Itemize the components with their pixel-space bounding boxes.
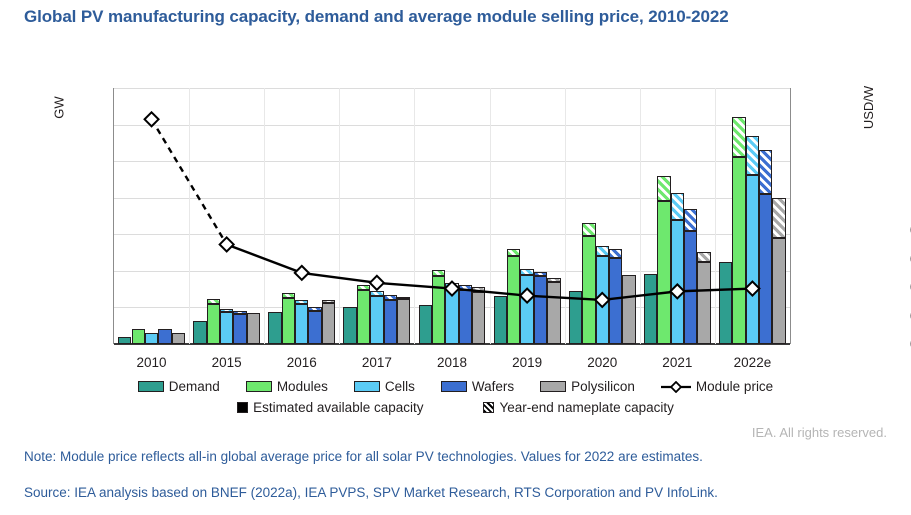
legend-item-polysilicon[interactable]: Polysilicon	[540, 379, 635, 394]
bar-cap-polysilicon-2018	[472, 287, 485, 292]
bar-cells-2010	[145, 333, 158, 344]
legend-item-modules[interactable]: Modules	[246, 379, 328, 394]
estimated-available-capacity-swatch	[237, 402, 248, 413]
bar-wafers-2019	[534, 276, 547, 344]
bar-wafers-2010	[158, 329, 171, 344]
note-text: Note: Module price reflects all-in globa…	[24, 449, 703, 464]
legend-item-cells[interactable]: Cells	[354, 379, 415, 394]
bar-cap-cells-2021	[671, 193, 684, 219]
legend-item-demand[interactable]: Demand	[138, 379, 220, 394]
bar-demand-2015	[193, 321, 206, 344]
gridline	[114, 161, 790, 162]
bar-modules-2015	[207, 304, 220, 344]
bar-cap-wafers-2017	[384, 295, 397, 300]
x-tick-label-2019: 2019	[512, 355, 542, 370]
bar-cap-wafers-2022e	[759, 150, 772, 194]
y-axis-label-right: USD/W	[861, 86, 876, 129]
legend-label: Year-end nameplate capacity	[499, 400, 673, 415]
bar-modules-2020	[582, 236, 595, 344]
bar-cap-cells-2015	[220, 309, 233, 312]
bar-demand-2022e	[719, 262, 732, 344]
legend-label: Demand	[169, 379, 220, 394]
bar-demand-2017	[343, 307, 356, 344]
bar-cap-cells-2020	[596, 246, 609, 256]
legend-item-wafers[interactable]: Wafers	[441, 379, 514, 394]
group-separator	[339, 88, 340, 344]
bar-demand-2021	[644, 274, 657, 344]
bar-wafers-2022e	[759, 194, 772, 344]
bar-modules-2017	[357, 290, 370, 344]
bar-cap-cells-2017	[370, 291, 383, 296]
bar-cap-cells-2018	[445, 283, 458, 289]
bar-cells-2022e	[746, 175, 759, 344]
bar-cap-polysilicon-2019	[547, 278, 560, 282]
legend-row-secondary: Estimated available capacityYear-end nam…	[0, 397, 911, 418]
bar-polysilicon-2016	[322, 303, 335, 344]
x-tick-label-2018: 2018	[437, 355, 467, 370]
group-separator	[490, 88, 491, 344]
bar-cap-cells-2022e	[746, 136, 759, 175]
bar-polysilicon-2017	[397, 299, 410, 344]
bar-polysilicon-2022e	[772, 238, 785, 344]
bar-cells-2020	[596, 256, 609, 345]
legend-label: Module price	[696, 379, 773, 394]
x-tick-label-2010: 2010	[137, 355, 167, 370]
bar-polysilicon-2019	[547, 282, 560, 344]
bar-modules-2010	[132, 329, 145, 344]
bar-wafers-2016	[308, 311, 321, 344]
bar-cap-modules-2019	[507, 249, 520, 256]
chart-canvas: GW USD/W 0100200300400500600700 0.00.20.…	[0, 70, 911, 370]
legend-label: Wafers	[472, 379, 514, 394]
bar-cap-modules-2022e	[732, 117, 745, 157]
bar-cap-polysilicon-2017	[397, 297, 410, 299]
bar-wafers-2021	[684, 231, 697, 344]
price-marker-2015	[220, 237, 234, 251]
bar-cap-modules-2018	[432, 270, 445, 276]
bar-cap-wafers-2016	[308, 307, 321, 311]
bar-cap-polysilicon-2022e	[772, 198, 785, 238]
bar-demand-2020	[569, 291, 582, 344]
module-price-line-marker	[661, 381, 691, 392]
bar-cap-modules-2017	[357, 285, 370, 290]
bar-cells-2017	[370, 296, 383, 344]
bar-cap-wafers-2021	[684, 209, 697, 230]
bar-cap-modules-2015	[207, 299, 220, 304]
bar-cap-polysilicon-2016	[322, 300, 335, 303]
y-axis-left-line	[113, 88, 114, 344]
year-end-nameplate-capacity-swatch	[483, 402, 494, 413]
legend-item-estimated-available-capacity[interactable]: Estimated available capacity	[237, 400, 423, 415]
demand-swatch	[138, 381, 164, 392]
bar-cells-2016	[295, 304, 308, 344]
bar-demand-2016	[268, 312, 281, 344]
modules-swatch	[246, 381, 272, 392]
cells-swatch	[354, 381, 380, 392]
bar-cap-wafers-2020	[609, 249, 622, 258]
bar-wafers-2017	[384, 300, 397, 344]
bar-modules-2019	[507, 256, 520, 344]
legend-label: Cells	[385, 379, 415, 394]
gridline	[114, 125, 790, 126]
gridline	[114, 198, 790, 199]
bar-demand-2010	[118, 337, 131, 344]
rights-text: IEA. All rights reserved.	[752, 425, 887, 440]
group-separator	[640, 88, 641, 344]
page-title: Global PV manufacturing capacity, demand…	[24, 6, 874, 29]
legend-item-year-end-nameplate-capacity[interactable]: Year-end nameplate capacity	[483, 400, 673, 415]
x-tick-label-2015: 2015	[212, 355, 242, 370]
bar-cap-polysilicon-2021	[697, 252, 710, 262]
bar-polysilicon-2010	[172, 333, 185, 344]
legend-label: Estimated available capacity	[253, 400, 423, 415]
gridline	[114, 88, 790, 89]
polysilicon-swatch	[540, 381, 566, 392]
group-separator	[414, 88, 415, 344]
bar-wafers-2020	[609, 258, 622, 344]
bar-modules-2021	[657, 201, 670, 344]
bar-cap-cells-2016	[295, 300, 308, 304]
x-tick-label-2022e: 2022e	[734, 355, 772, 370]
legend-label: Polysilicon	[571, 379, 635, 394]
bar-wafers-2015	[233, 314, 246, 344]
bar-cells-2018	[445, 288, 458, 344]
bar-demand-2018	[419, 305, 432, 344]
group-separator	[715, 88, 716, 344]
y-axis-label-left: GW	[52, 96, 67, 118]
x-tick-label-2020: 2020	[587, 355, 617, 370]
bar-polysilicon-2018	[472, 292, 485, 344]
bar-demand-2019	[494, 296, 507, 344]
bar-polysilicon-2021	[697, 262, 710, 344]
legend-item-module-price[interactable]: Module price	[661, 379, 773, 394]
bar-cap-wafers-2015	[233, 311, 246, 314]
bar-modules-2018	[432, 276, 445, 344]
bar-polysilicon-2020	[622, 275, 635, 344]
chart-legend: DemandModulesCellsWafersPolysiliconModul…	[0, 376, 911, 418]
bar-cap-wafers-2019	[534, 272, 547, 276]
bar-cells-2015	[220, 312, 233, 344]
y-axis-right-line	[790, 88, 791, 344]
bar-cap-wafers-2018	[459, 285, 472, 290]
legend-label: Modules	[277, 379, 328, 394]
bar-cap-modules-2016	[282, 293, 295, 298]
bar-wafers-2018	[459, 290, 472, 344]
wafers-swatch	[441, 381, 467, 392]
bar-modules-2022e	[732, 157, 745, 344]
price-marker-2017	[370, 276, 384, 290]
bar-cells-2021	[671, 220, 684, 344]
bar-cap-cells-2019	[520, 269, 533, 274]
bar-modules-2016	[282, 298, 295, 344]
group-separator	[189, 88, 190, 344]
price-marker-2016	[295, 266, 309, 280]
group-separator	[565, 88, 566, 344]
group-separator	[264, 88, 265, 344]
source-text: Source: IEA analysis based on BNEF (2022…	[24, 485, 718, 500]
bar-cap-modules-2020	[582, 223, 595, 236]
x-tick-label-2021: 2021	[662, 355, 692, 370]
bar-polysilicon-2015	[247, 313, 260, 344]
x-tick-label-2016: 2016	[287, 355, 317, 370]
plot-area: 0100200300400500600700 0.00.20.40.60.81.…	[114, 88, 790, 344]
bar-cells-2019	[520, 275, 533, 344]
bar-cap-modules-2021	[657, 176, 670, 201]
x-tick-label-2017: 2017	[362, 355, 392, 370]
legend-row-primary: DemandModulesCellsWafersPolysiliconModul…	[0, 376, 911, 397]
